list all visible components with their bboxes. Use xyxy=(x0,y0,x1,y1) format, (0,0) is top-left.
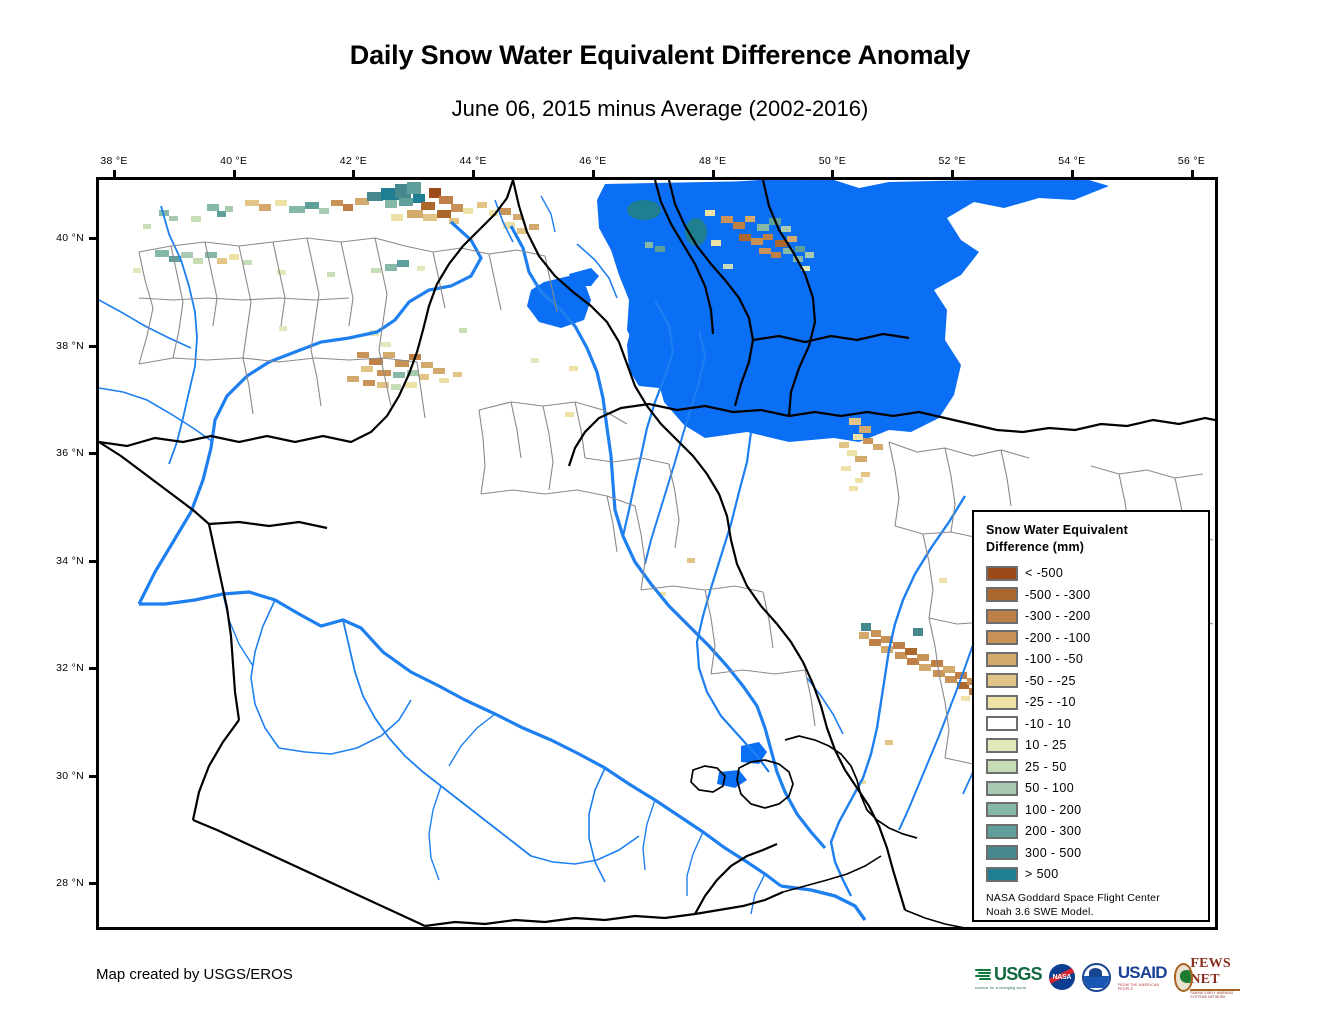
nasa-logo-text: NASA xyxy=(1052,974,1071,981)
agency-logos: USGS science for a changing world NASA U… xyxy=(975,957,1220,997)
river-karun xyxy=(831,496,965,896)
latitude-tick xyxy=(89,775,96,778)
river-south-1 xyxy=(751,874,765,914)
river-desert-wadi-7 xyxy=(449,714,495,766)
longitude-label: 44 °E xyxy=(460,155,487,167)
legend-swatch xyxy=(986,609,1018,624)
longitude-tick xyxy=(831,170,834,177)
longitude-tick xyxy=(233,170,236,177)
legend-label: > 500 xyxy=(1025,867,1059,881)
fews-tagline: FAMINE EARLY WARNING SYSTEMS NETWORK xyxy=(1190,991,1240,999)
map-credit: Map created by USGS/EROS xyxy=(96,966,293,983)
fews-net-logo: FEWS NET FAMINE EARLY WARNING SYSTEMS NE… xyxy=(1174,962,1240,992)
noaa-seal-icon xyxy=(1082,963,1111,992)
longitude-tick xyxy=(951,170,954,177)
legend-row: 100 - 200 xyxy=(986,799,1196,820)
longitude-label: 52 °E xyxy=(938,155,965,167)
legend-swatch xyxy=(986,781,1018,796)
legend-swatch xyxy=(986,630,1018,645)
river-desert-wadi-10 xyxy=(687,832,703,896)
legend-swatch xyxy=(986,802,1018,817)
latitude-tick xyxy=(89,667,96,670)
usaid-tagline: FROM THE AMERICAN PEOPLE xyxy=(1118,983,1167,991)
legend-row: -100 - -50 xyxy=(986,649,1196,670)
latitude-tick xyxy=(89,452,96,455)
legend-label: 200 - 300 xyxy=(1025,824,1081,838)
legend-label: 10 - 25 xyxy=(1025,738,1067,752)
latitude-label: 40 °N xyxy=(56,232,84,244)
page-title: Daily Snow Water Equivalent Difference A… xyxy=(0,40,1320,71)
river-north-2 xyxy=(541,196,555,232)
legend-row: -10 - 10 xyxy=(986,713,1196,734)
legend-row: -500 - -300 xyxy=(986,584,1196,605)
legend-label: < -500 xyxy=(1025,566,1063,580)
legend-swatch xyxy=(986,587,1018,602)
usgs-logo-text: USGS xyxy=(994,964,1042,985)
longitude-tick xyxy=(592,170,595,177)
legend-label: -50 - -25 xyxy=(1025,674,1076,688)
caspian-sea xyxy=(597,180,1109,442)
longitude-tick xyxy=(472,170,475,177)
longitude-tick xyxy=(352,170,355,177)
legend-note-line2: Noah 3.6 SWE Model. xyxy=(986,905,1196,919)
lake-van-arm xyxy=(569,268,599,286)
latitude-label: 32 °N xyxy=(56,662,84,674)
legend-row: -50 - -25 xyxy=(986,670,1196,691)
legend-label: -200 - -100 xyxy=(1025,631,1091,645)
latitude-label: 38 °N xyxy=(56,340,84,352)
legend-swatch xyxy=(986,566,1018,581)
legend-swatch xyxy=(986,652,1018,667)
legend-row: 25 - 50 xyxy=(986,756,1196,777)
legend-swatch xyxy=(986,738,1018,753)
legend-swatch xyxy=(986,824,1018,839)
legend-note-line1: NASA Goddard Space Flight Center xyxy=(986,891,1196,905)
latitude-label: 36 °N xyxy=(56,447,84,459)
legend-label: 50 - 100 xyxy=(1025,781,1074,795)
latitude-tick xyxy=(89,560,96,563)
river-west-2 xyxy=(99,388,213,442)
legend-title-line1: Snow Water Equivalent xyxy=(986,522,1196,539)
usaid-logo: USAID FROM THE AMERICAN PEOPLE xyxy=(1118,962,1167,992)
longitude-tick xyxy=(1191,170,1194,177)
longitude-label: 50 °E xyxy=(819,155,846,167)
river-desert-wadi-8 xyxy=(589,768,605,882)
legend-swatch xyxy=(986,867,1018,882)
river-desert-wadi-9 xyxy=(643,800,655,870)
usgs-tagline: science for a changing world xyxy=(975,986,1026,990)
nasa-logo: NASA xyxy=(1049,962,1075,992)
longitude-label: 42 °E xyxy=(340,155,367,167)
fews-globe-icon xyxy=(1174,963,1194,992)
legend-swatch xyxy=(986,695,1018,710)
legend-row: -200 - -100 xyxy=(986,627,1196,648)
legend-swatch xyxy=(986,759,1018,774)
legend-row: -25 - -10 xyxy=(986,692,1196,713)
legend-title: Snow Water Equivalent Difference (mm) xyxy=(986,522,1196,556)
legend-swatch xyxy=(986,845,1018,860)
legend-row: 300 - 500 xyxy=(986,842,1196,863)
river-desert-wadi-5 xyxy=(531,836,639,864)
legend-title-line2: Difference (mm) xyxy=(986,539,1196,556)
nasa-meatball-icon: NASA xyxy=(1049,964,1075,990)
river-desert-wadi-3 xyxy=(279,700,411,754)
longitude-label: 38 °E xyxy=(100,155,127,167)
legend-label: -100 - -50 xyxy=(1025,652,1083,666)
legend-label: 25 - 50 xyxy=(1025,760,1067,774)
legend-row: > 500 xyxy=(986,864,1196,885)
anomaly-pontic xyxy=(143,182,539,234)
latitude-tick xyxy=(89,237,96,240)
latitude-tick xyxy=(89,345,96,348)
river-desert-wadi-1 xyxy=(251,600,279,748)
map-legend: Snow Water Equivalent Difference (mm) < … xyxy=(972,510,1210,922)
river-euphrates-upper xyxy=(139,222,481,604)
legend-source-note: NASA Goddard Space Flight Center Noah 3.… xyxy=(986,891,1196,919)
longitude-tick xyxy=(113,170,116,177)
legend-label: -25 - -10 xyxy=(1025,695,1076,709)
latitude-tick xyxy=(89,882,96,885)
longitude-label: 46 °E xyxy=(579,155,606,167)
noaa-logo xyxy=(1082,962,1111,992)
latitude-label: 34 °N xyxy=(56,555,84,567)
longitude-label: 56 °E xyxy=(1178,155,1205,167)
latitude-label: 28 °N xyxy=(56,877,84,889)
longitude-label: 48 °E xyxy=(699,155,726,167)
usgs-logo: USGS science for a changing world xyxy=(975,962,1042,992)
longitude-label: 54 °E xyxy=(1058,155,1085,167)
river-desert-wadi-4 xyxy=(343,620,531,856)
legend-label: -10 - 10 xyxy=(1025,717,1071,731)
latitude-label: 30 °N xyxy=(56,770,84,782)
river-desert-wadi-6 xyxy=(429,786,441,880)
legend-label: 300 - 500 xyxy=(1025,846,1081,860)
legend-row: < -500 xyxy=(986,563,1196,584)
legend-swatch xyxy=(986,673,1018,688)
legend-label: -500 - -300 xyxy=(1025,588,1091,602)
legend-entries: < -500-500 - -300-300 - -200-200 - -100-… xyxy=(986,563,1196,885)
longitude-tick xyxy=(712,170,715,177)
legend-swatch xyxy=(986,716,1018,731)
legend-row: 10 - 25 xyxy=(986,735,1196,756)
river-north-1 xyxy=(495,200,513,242)
legend-row: -300 - -200 xyxy=(986,606,1196,627)
longitude-label: 40 °E xyxy=(220,155,247,167)
river-desert-wadi-2 xyxy=(223,594,253,666)
legend-label: 100 - 200 xyxy=(1025,803,1081,817)
fews-net-logo-text: FEWS NET xyxy=(1190,956,1240,988)
longitude-tick xyxy=(1071,170,1074,177)
usgs-wave-icon xyxy=(975,967,992,982)
legend-row: 200 - 300 xyxy=(986,821,1196,842)
page-subtitle: June 06, 2015 minus Average (2002-2016) xyxy=(0,96,1320,122)
legend-row: 50 - 100 xyxy=(986,778,1196,799)
legend-label: -300 - -200 xyxy=(1025,609,1091,623)
usaid-logo-text: USAID xyxy=(1118,963,1167,983)
river-shatt-al-arab xyxy=(781,886,865,920)
